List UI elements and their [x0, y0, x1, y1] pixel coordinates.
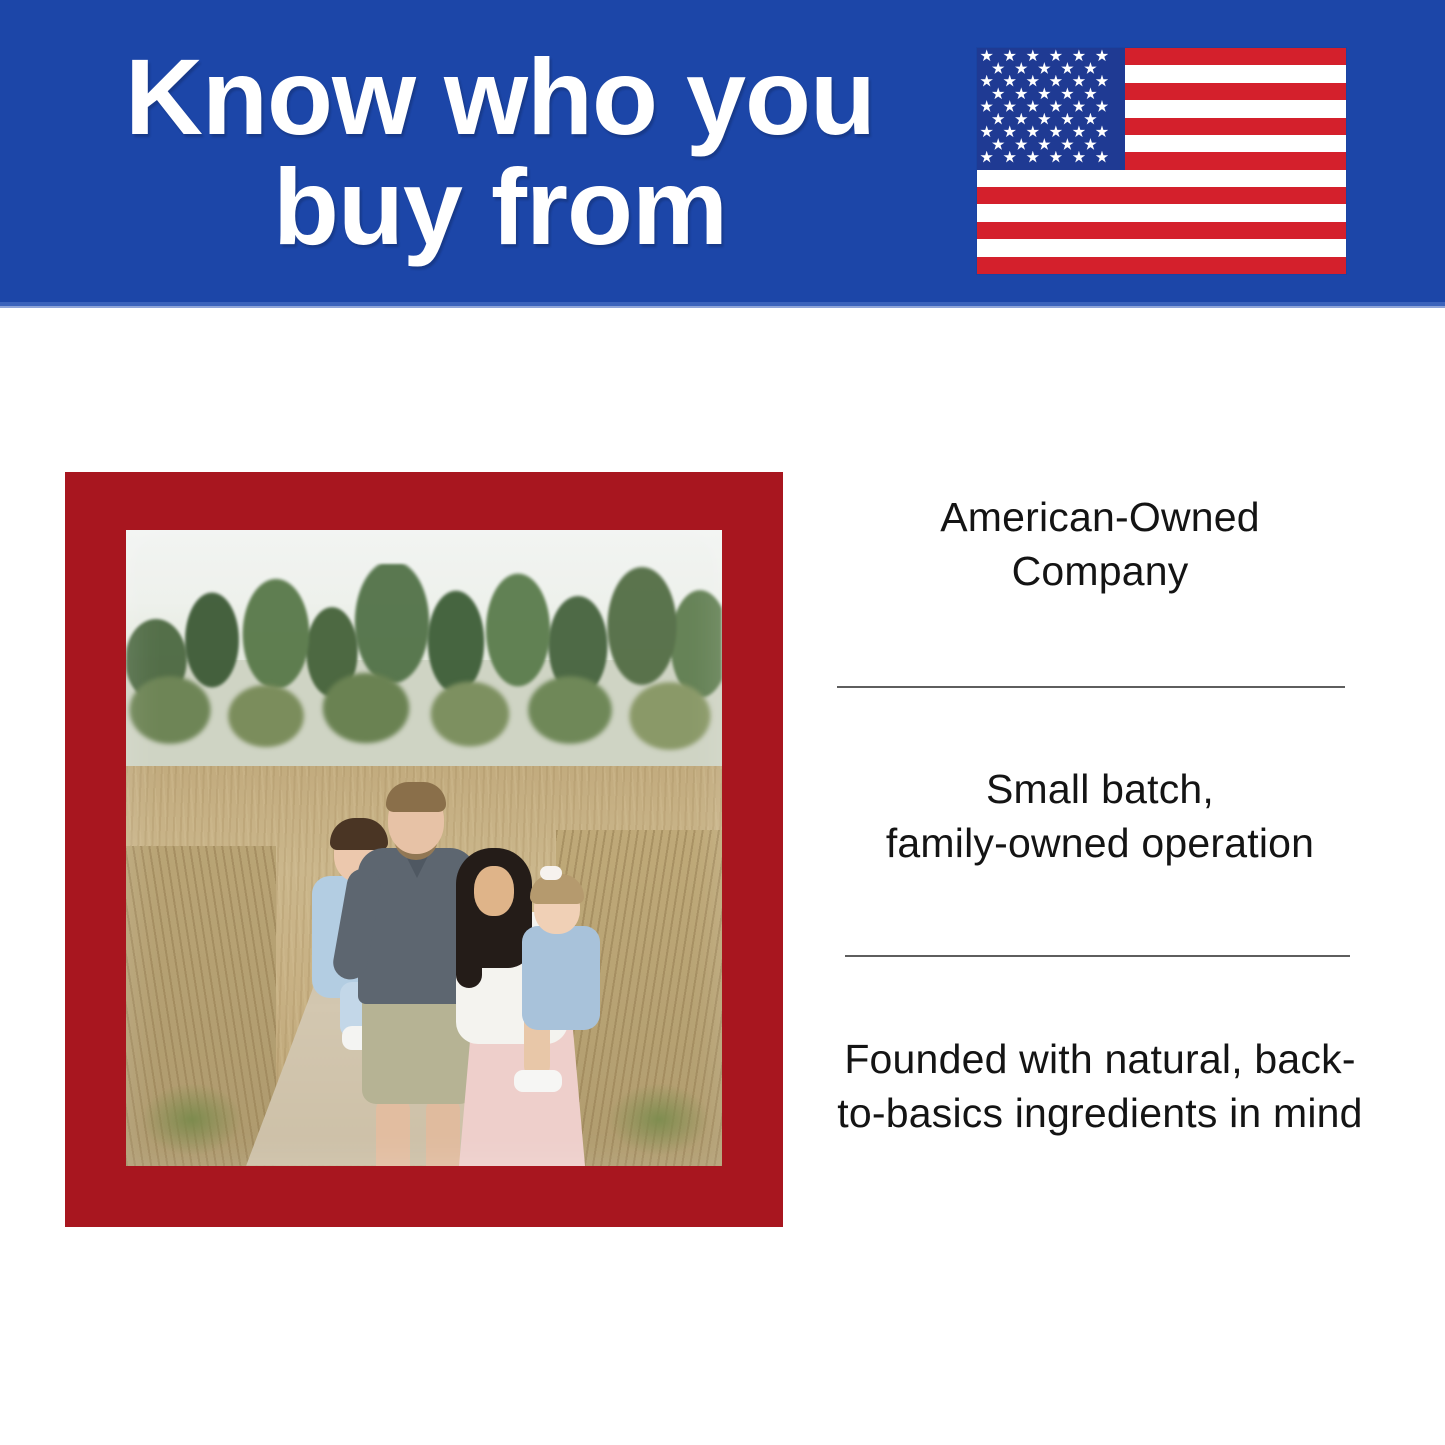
flag-star	[1072, 151, 1085, 164]
flag-star	[1084, 62, 1097, 75]
flag-star	[1049, 75, 1062, 88]
flag-stripe	[977, 204, 1346, 221]
flag-star	[1003, 151, 1016, 164]
flag-star	[1026, 75, 1039, 88]
flag-star	[1095, 125, 1108, 138]
photo-green-patch-right	[596, 1050, 722, 1166]
photo-mother-hair-strand	[456, 902, 482, 988]
flag-star	[980, 125, 993, 138]
photo-frame	[65, 472, 783, 1227]
flag-star	[1015, 113, 1028, 126]
flag-star	[1061, 138, 1074, 151]
fact-american-owned-line-1: American-Owned	[940, 494, 1260, 540]
fact-american-owned-line-2: Company	[1012, 548, 1189, 594]
flag-star	[1061, 87, 1074, 100]
fact-natural-ingredients-line-2: to-basics ingredients in mind	[837, 1090, 1362, 1136]
flag-star	[1072, 125, 1085, 138]
flag-star	[1061, 113, 1074, 126]
flag-stripe	[977, 257, 1346, 274]
flag-star	[1026, 125, 1039, 138]
flag-stripe	[977, 239, 1346, 256]
flag-star	[1026, 151, 1039, 164]
flag-canton	[977, 48, 1125, 170]
flag-star	[1084, 113, 1097, 126]
header-underline-accent	[0, 306, 1445, 308]
flag-star	[1038, 138, 1051, 151]
flag-star	[1049, 100, 1062, 113]
fact-natural-ingredients-line-1: Founded with natural, back-	[844, 1036, 1355, 1082]
fact-divider	[837, 686, 1345, 688]
flag-star	[992, 138, 1005, 151]
flag-star	[992, 87, 1005, 100]
flag-stripe	[977, 170, 1346, 187]
flag-stripe	[977, 187, 1346, 204]
flag-star	[980, 49, 993, 62]
flag-star	[1003, 125, 1016, 138]
page-title-line-1: Know who you	[60, 42, 940, 152]
flag-star	[1084, 87, 1097, 100]
flag-stripe	[977, 222, 1346, 239]
page-title-line-2: buy from	[60, 152, 940, 262]
flag-star	[1003, 100, 1016, 113]
flag-star	[1003, 49, 1016, 62]
fact-small-batch-line-2: family-owned operation	[886, 820, 1314, 866]
fact-small-batch: Small batch, family-owned operation	[820, 762, 1380, 870]
photo-child-girl-torso	[522, 926, 600, 1030]
family-photo	[126, 530, 722, 1166]
photo-father-leg-right	[426, 1096, 460, 1166]
page-title: Know who you buy from	[60, 42, 940, 262]
photo-child-girl-bow	[540, 866, 562, 880]
flag-star	[1049, 49, 1062, 62]
flag-star	[1038, 87, 1051, 100]
flag-star	[1061, 62, 1074, 75]
photo-father-hair	[386, 782, 446, 812]
flag-star	[1095, 75, 1108, 88]
flag-star	[1084, 138, 1097, 151]
promo-graphic: Know who you buy from	[0, 0, 1445, 1445]
flag-star	[1038, 113, 1051, 126]
fact-divider	[845, 955, 1350, 957]
flag-star	[980, 100, 993, 113]
photo-child-girl-shoe	[514, 1070, 562, 1092]
flag-star	[1026, 49, 1039, 62]
flag-star	[1015, 138, 1028, 151]
photo-mother-face	[474, 866, 514, 916]
flag-star	[1026, 100, 1039, 113]
flag-star	[1049, 125, 1062, 138]
flag-star	[1015, 87, 1028, 100]
photo-father-leg-left	[376, 1096, 410, 1166]
american-flag-icon	[977, 48, 1346, 274]
flag-star	[1072, 100, 1085, 113]
flag-star	[1049, 151, 1062, 164]
fact-small-batch-line-1: Small batch,	[986, 766, 1214, 812]
flag-star	[992, 62, 1005, 75]
fact-american-owned: American-Owned Company	[820, 490, 1380, 598]
photo-green-patch-left	[132, 1050, 252, 1166]
flag-star	[992, 113, 1005, 126]
flag-star	[1095, 100, 1108, 113]
flag-star	[1072, 49, 1085, 62]
flag-star	[1038, 62, 1051, 75]
flag-star	[1003, 75, 1016, 88]
flag-star	[980, 75, 993, 88]
flag-star	[1015, 62, 1028, 75]
flag-star	[1095, 49, 1108, 62]
facts-list: American-Owned Company Small batch, fami…	[820, 472, 1380, 1172]
flag-star	[1095, 151, 1108, 164]
flag-star	[1072, 75, 1085, 88]
flag-star	[980, 151, 993, 164]
fact-natural-ingredients: Founded with natural, back- to-basics in…	[820, 1032, 1380, 1140]
